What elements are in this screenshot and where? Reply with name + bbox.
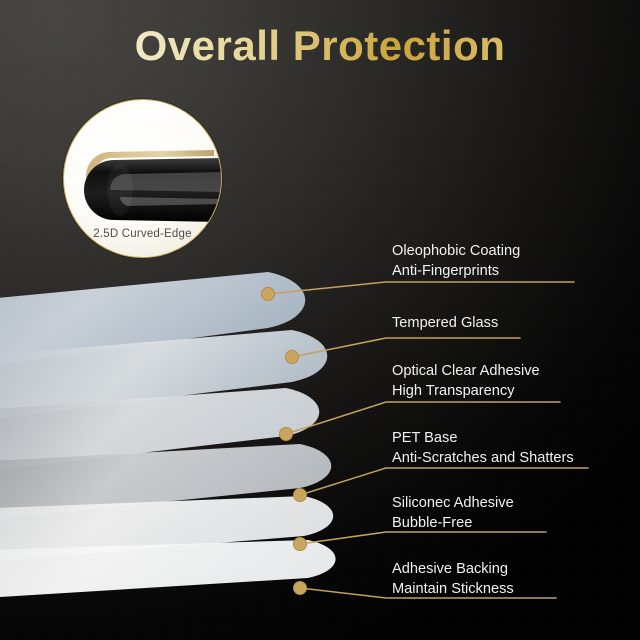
callout-6-line2: Maintain Stickness [392,579,514,599]
callout-1-line2: Anti-Fingerprints [392,261,520,281]
callout-3-line1: Optical Clear Adhesive [392,363,540,379]
page-title: Overall Protection [0,22,640,70]
curved-edge-inset: 2.5D Curved-Edge [63,99,222,258]
callout-2: Tempered Glass [392,313,498,333]
connector-dot-4 [293,488,306,501]
connector-dot-1 [261,287,274,300]
callout-5-line2: Bubble-Free [392,513,514,533]
callout-1: Oleophobic Coating Anti-Fingerprints [392,241,520,281]
callout-5-line1: Siliconec Adhesive [392,495,514,511]
callout-4-line1: PET Base [392,430,457,446]
connector-dot-6 [293,581,306,594]
callout-6-underline [386,597,556,599]
callout-5: Siliconec Adhesive Bubble-Free [392,493,514,533]
callout-1-line1: Oleophobic Coating [392,243,520,259]
connector-dot-5 [293,537,306,550]
leader-line-5 [300,532,546,544]
inset-label: 2.5D Curved-Edge [64,228,221,240]
callout-4-underline [386,467,588,469]
callout-2-line1: Tempered Glass [392,315,498,331]
connector-dot-3 [279,427,292,440]
leader-line-1 [268,282,574,294]
connector-dot-2 [285,350,298,363]
callout-3: Optical Clear Adhesive High Transparency [392,361,540,401]
callout-6: Adhesive Backing Maintain Stickness [392,559,514,599]
callout-5-underline [386,531,546,533]
callout-2-underline [386,337,520,339]
leader-line-4 [300,468,588,495]
callout-4-line2: Anti-Scratches and Shatters [392,448,574,468]
callout-3-underline [386,401,560,403]
infographic-canvas: Overall Protection [0,0,640,640]
leader-line-2 [292,338,520,357]
callout-1-underline [386,281,574,283]
leader-lines [0,0,640,640]
callout-4: PET Base Anti-Scratches and Shatters [392,428,574,468]
callout-3-line2: High Transparency [392,381,540,401]
callout-6-line1: Adhesive Backing [392,561,508,577]
